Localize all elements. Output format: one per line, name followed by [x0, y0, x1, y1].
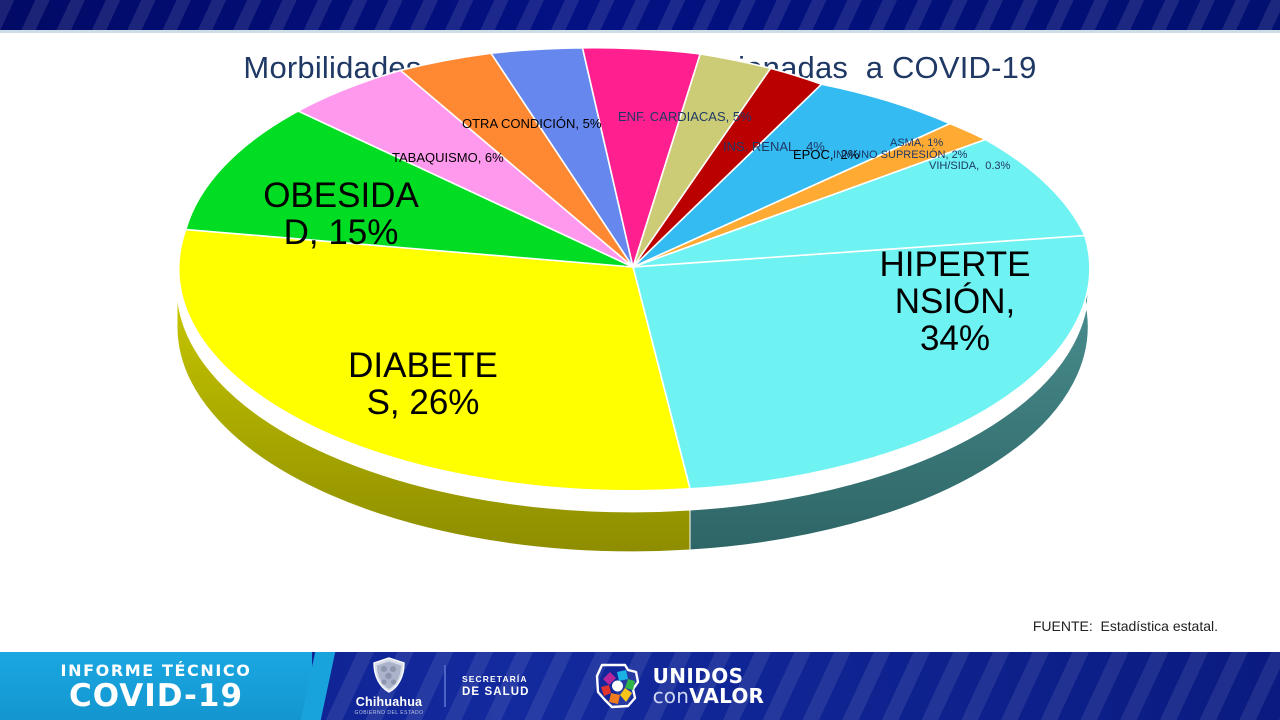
covid-19-label: COVID-19: [69, 681, 243, 712]
con-valor-line: conVALOR: [653, 686, 765, 706]
gobierno-del-estado-label: GOBIERNO DEL ESTADO: [355, 710, 424, 716]
footer-logos: Chihuahua GOBIERNO DEL ESTADO SECRETARÍA…: [312, 657, 1280, 716]
de-salud-label: DE SALUD: [462, 686, 530, 698]
unidos-con-valor-text: UNIDOS conVALOR: [653, 666, 765, 706]
shield-icon: [372, 657, 406, 693]
pie-chart-svg: [0, 0, 1280, 650]
informe-tecnico-label: INFORME TÉCNICO: [61, 661, 252, 680]
data-label-enf-cardiacas: ENF. CARDIACAS, 5%: [618, 110, 752, 124]
data-label-otra-condicion: OTRA CONDICIÓN, 5%: [462, 117, 601, 131]
data-label-tabaquismo: TABAQUISMO, 6%: [392, 151, 504, 165]
data-label-asma: ASMA, 1%: [890, 138, 943, 150]
footer-divider: [444, 665, 446, 707]
chihuahua-government-logo: Chihuahua GOBIERNO DEL ESTADO: [350, 657, 428, 716]
chihuahua-state-map-icon: [592, 662, 644, 710]
secretaria-de-salud-logo: SECRETARÍA DE SALUD: [462, 674, 530, 698]
unidos-label: UNIDOS: [653, 666, 765, 686]
unidos-con-valor-logo: UNIDOS conVALOR: [592, 662, 765, 710]
data-label-diabetes: DIABETE S, 26%: [318, 348, 528, 422]
source-note: FUENTE: Estadística estatal.: [1033, 618, 1218, 634]
con-label: con: [653, 684, 690, 708]
pie-chart: HIPERTE NSIÓN, 34% DIABETE S, 26% OBESID…: [0, 0, 1280, 650]
data-label-vih-sida: VIH/SIDA, 0.3%: [929, 161, 1010, 173]
valor-label: VALOR: [689, 684, 764, 708]
informe-tecnico-covid-block: INFORME TÉCNICO COVID-19: [0, 652, 312, 720]
data-label-obesidad: OBESIDA D, 15%: [236, 178, 446, 252]
data-label-hipertension: HIPERTE NSIÓN, 34%: [855, 247, 1055, 357]
secretaria-label: SECRETARÍA: [462, 674, 530, 684]
chihuahua-label: Chihuahua: [356, 695, 422, 709]
footer-banner: INFORME TÉCNICO COVID-19 Chihuahua GOBIE…: [0, 652, 1280, 720]
